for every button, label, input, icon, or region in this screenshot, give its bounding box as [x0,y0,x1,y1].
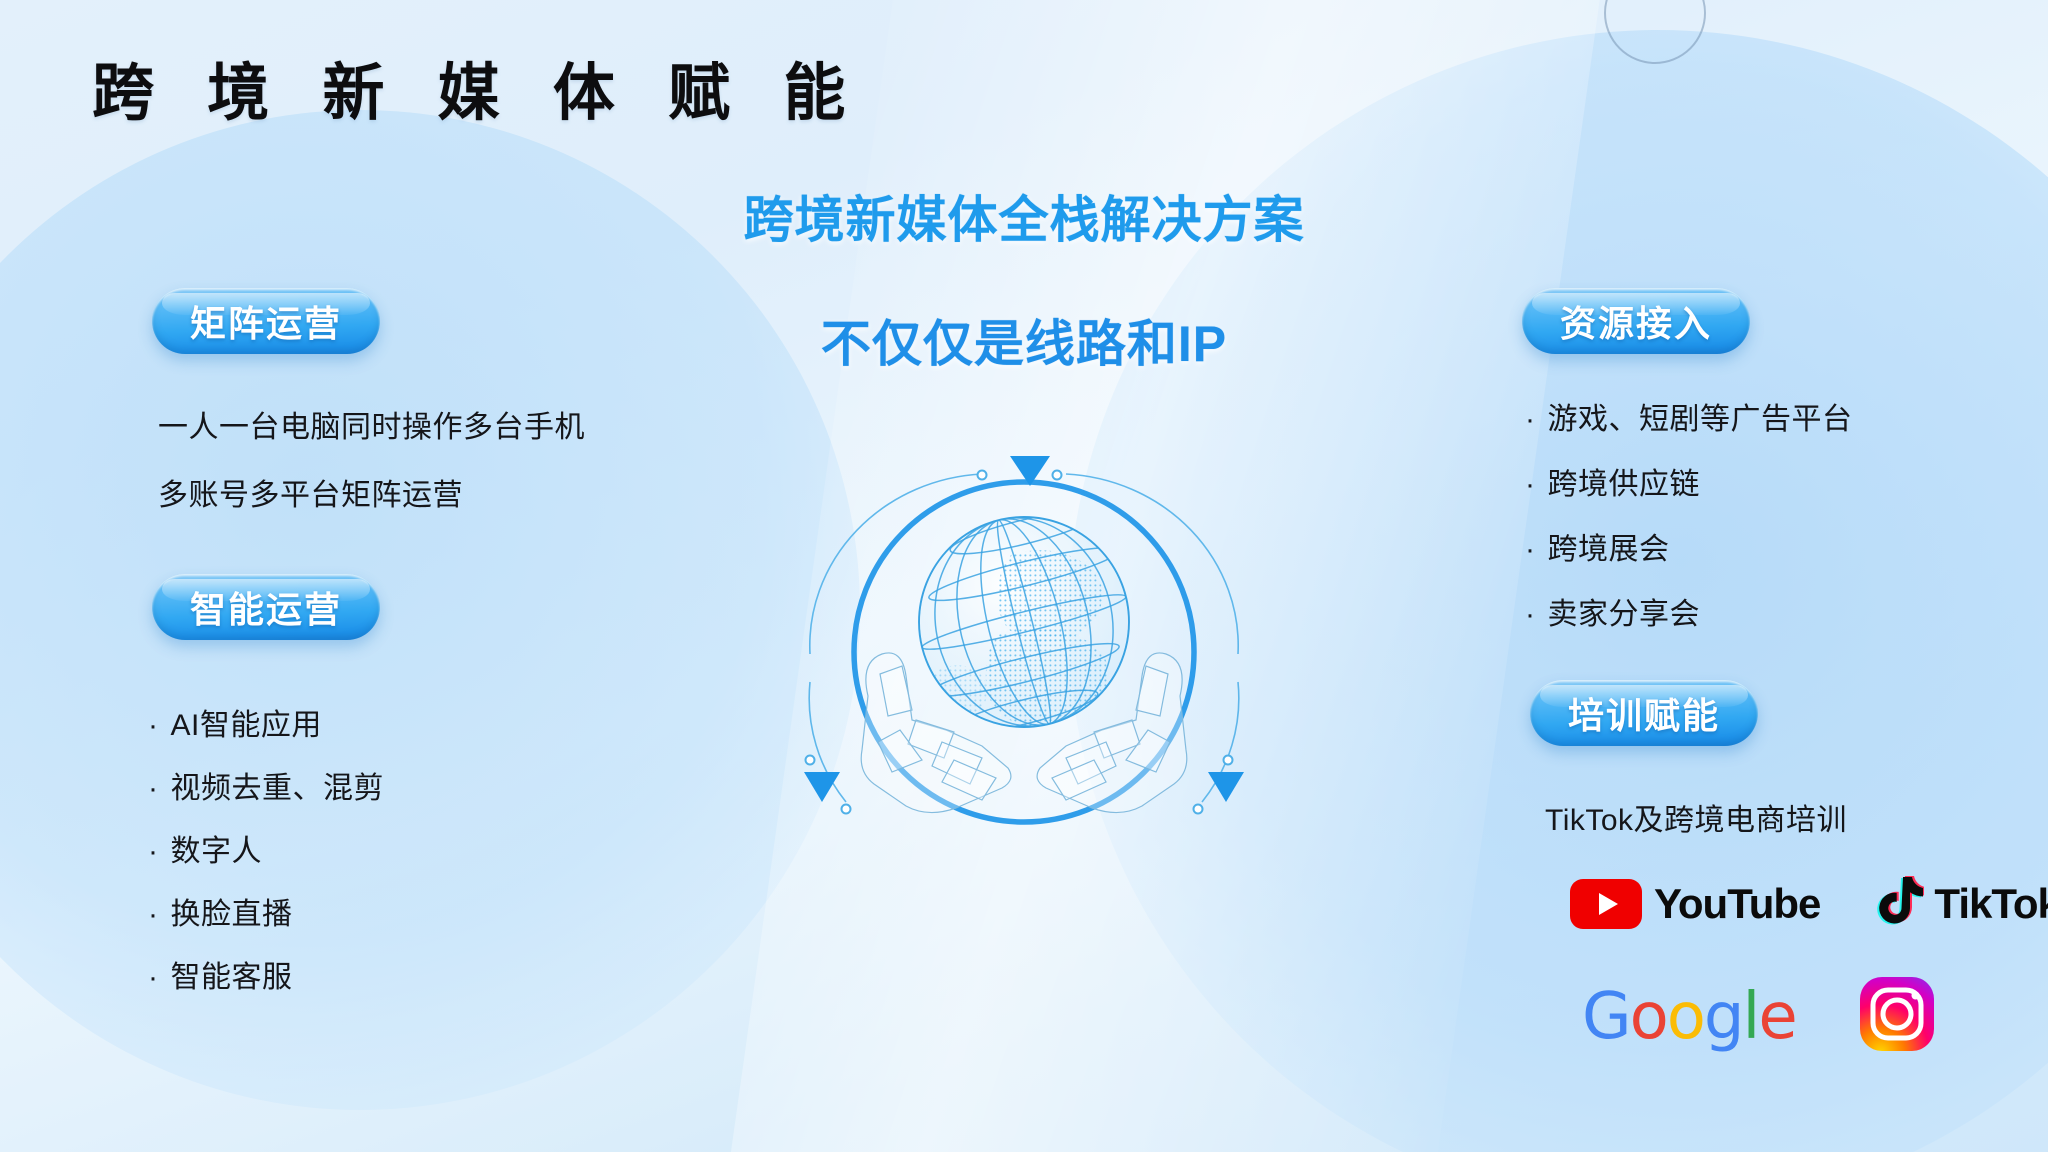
youtube-play-icon [1570,879,1642,929]
instagram-logo[interactable] [1858,975,1936,1058]
pill-smart-operations[interactable]: 智能运营 [152,574,380,640]
page-title: 跨 境 新 媒 体 赋 能 [92,42,863,132]
pill-label: 矩阵运营 [190,295,342,347]
pill-label: 培训赋能 [1568,687,1720,739]
left-bullet-4: ·换脸直播 [148,889,293,933]
bullet-dot-icon: · [148,709,159,743]
bullet-dot-icon: · [1525,403,1536,437]
bullet-dot-icon: · [1525,598,1536,632]
bullet-dot-icon: · [1525,533,1536,567]
google-letter-4: g [1704,980,1743,1054]
bullet-dot-icon: · [148,772,159,806]
pill-label: 资源接入 [1560,295,1712,347]
outline-circle-icon [1604,0,1706,64]
google-letter-6: e [1758,980,1795,1054]
bullet-text: 跨境展会 [1548,533,1670,566]
bullet-dot-icon: · [148,898,159,932]
bullet-dot-icon: · [148,835,159,869]
bullet-text: 跨境供应链 [1548,468,1701,501]
pill-training-empowerment[interactable]: 培训赋能 [1530,680,1758,746]
center-heading-primary: 跨境新媒体全栈解决方案 [744,180,1305,252]
left-bullet-5: ·智能客服 [148,952,293,996]
right-bullet-3: ·跨境展会 [1525,524,1670,568]
bullet-text: 卖家分享会 [1548,598,1701,631]
logo-row-bottom: Google [1582,975,1936,1058]
google-letter-2: o [1630,980,1667,1054]
slide-canvas: 跨 境 新 媒 体 赋 能 跨境新媒体全栈解决方案 不仅仅是线路和IP [0,0,2048,1152]
google-letter-5: l [1743,980,1759,1054]
left-text-line-2: 多账号多平台矩阵运营 [158,470,463,514]
tiktok-note-icon [1876,875,1924,932]
google-letter-1: G [1582,980,1630,1054]
left-bullet-3: ·数字人 [148,826,262,870]
tiktok-wordmark: TikTok [1934,880,2048,928]
youtube-logo[interactable]: YouTube [1570,879,1820,929]
left-bullet-2: ·视频去重、混剪 [148,763,384,807]
bullet-text: 视频去重、混剪 [171,772,385,805]
left-text-line-1: 一人一台电脑同时操作多台手机 [158,402,585,446]
left-bullet-1: ·AI智能应用 [148,700,322,744]
bullet-text: 智能客服 [171,961,293,994]
bullet-text: 换脸直播 [171,898,293,931]
bullet-dot-icon: · [1525,468,1536,502]
google-letter-3: o [1667,980,1704,1054]
center-heading-secondary: 不仅仅是线路和IP [821,304,1227,376]
globe-in-hands-illustration [804,424,1244,864]
google-logo[interactable]: Google [1582,980,1796,1054]
logo-row-top: YouTube TikTok [1570,875,2048,932]
pill-resource-access[interactable]: 资源接入 [1522,288,1750,354]
pill-label: 智能运营 [190,581,342,633]
bullet-dot-icon: · [148,961,159,995]
background-circle-left [0,110,860,1110]
right-bullet-2: ·跨境供应链 [1525,459,1700,503]
youtube-wordmark: YouTube [1654,880,1820,928]
right-text-line-1: TikTok及跨境电商培训 [1545,795,1847,839]
bullet-text: 游戏、短剧等广告平台 [1548,403,1853,436]
right-bullet-4: ·卖家分享会 [1525,589,1700,633]
right-bullet-1: ·游戏、短剧等广告平台 [1525,394,1853,438]
bullet-text: AI智能应用 [171,709,322,742]
pill-matrix-operations[interactable]: 矩阵运营 [152,288,380,354]
bullet-text: 数字人 [171,835,263,868]
tiktok-logo[interactable]: TikTok [1876,875,2048,932]
